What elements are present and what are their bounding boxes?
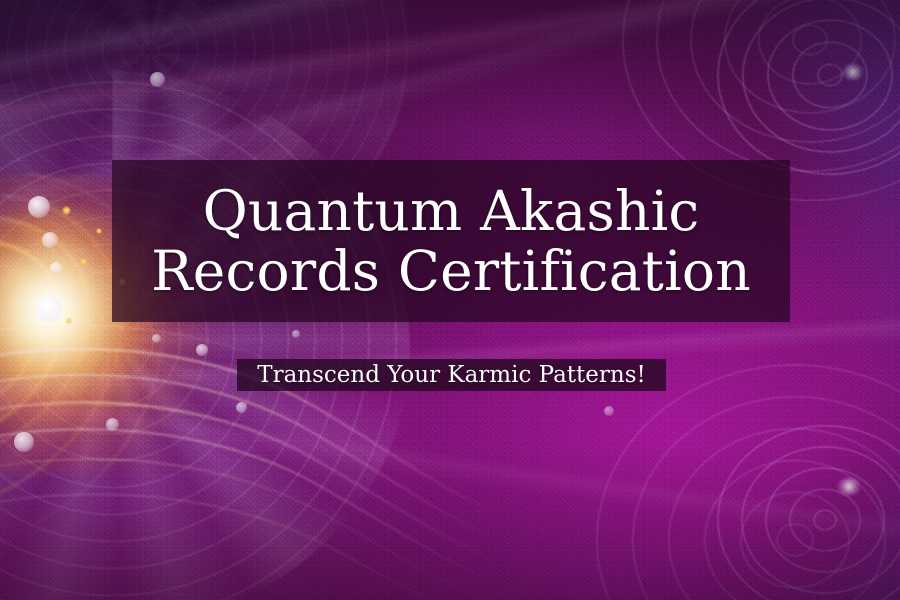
page-title-line-2: Records Certification <box>151 241 751 302</box>
bokeh-particle <box>14 432 34 452</box>
sparkle-particle <box>62 206 71 215</box>
bokeh-particle <box>196 344 208 356</box>
subtitle-band: Transcend Your Karmic Patterns! <box>237 359 666 391</box>
bokeh-particle <box>292 330 300 338</box>
spiral-rings-icon <box>0 70 410 600</box>
sparkle-particle <box>66 318 72 324</box>
bokeh-particle <box>604 406 614 416</box>
bokeh-particle <box>236 402 247 413</box>
sparkle-particle <box>96 228 102 234</box>
ring-glint-icon <box>840 64 866 80</box>
bokeh-particle <box>50 262 62 274</box>
bokeh-particle <box>42 232 58 248</box>
concentric-rings-bottom-right-inner-icon <box>700 410 900 600</box>
sparkle-particle <box>80 258 87 265</box>
promotional-banner: Quantum Akashic Records Certification Tr… <box>0 0 900 600</box>
bokeh-particle <box>152 334 161 343</box>
bokeh-particle <box>36 296 62 322</box>
page-title-line-1: Quantum Akashic <box>203 181 700 242</box>
title-band: Quantum Akashic Records Certification <box>112 160 790 322</box>
ring-glint-icon <box>834 478 864 495</box>
light-waves-icon <box>0 300 500 600</box>
subtitle-text: Transcend Your Karmic Patterns! <box>257 364 646 387</box>
bokeh-particle <box>150 72 165 87</box>
bokeh-particle <box>106 418 119 431</box>
bokeh-particle <box>28 196 50 218</box>
